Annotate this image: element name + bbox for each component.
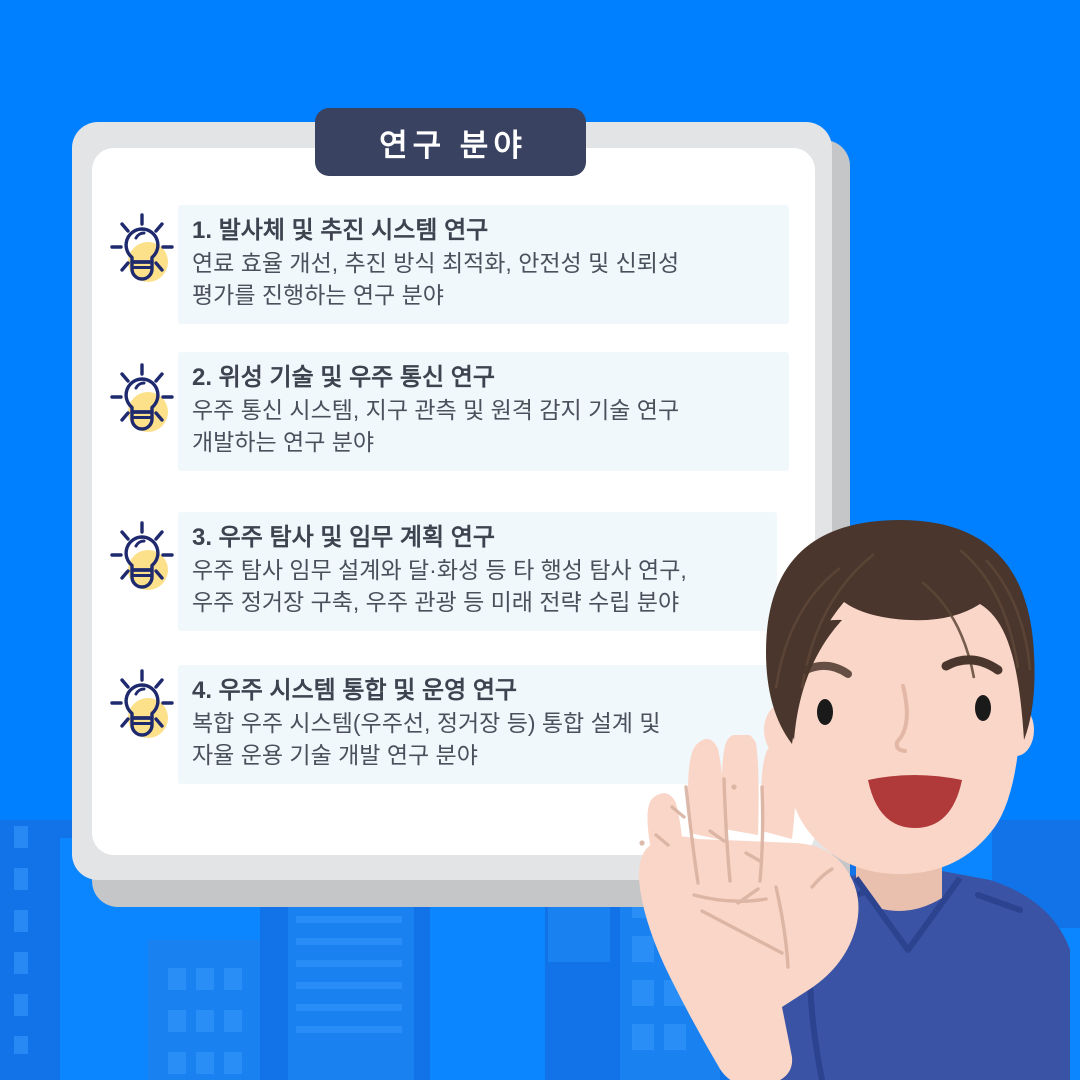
list-item-desc: 복합 우주 시스템(우주선, 정거장 등) 통합 설계 및 자율 운용 기술 개… — [192, 707, 763, 771]
list-item-box: 4. 우주 시스템 통합 및 운영 연구 복합 우주 시스템(우주선, 정거장 … — [178, 665, 777, 784]
list-item-box: 2. 위성 기술 및 우주 통신 연구 우주 통신 시스템, 지구 관측 및 원… — [178, 352, 789, 471]
list-item-box: 1. 발사체 및 추진 시스템 연구 연료 효율 개선, 추진 방식 최적화, … — [178, 205, 789, 324]
lightbulb-icon — [106, 518, 178, 598]
research-field-list: 1. 발사체 및 추진 시스템 연구 연료 효율 개선, 추진 방식 최적화, … — [92, 148, 815, 855]
list-item-desc: 우주 탐사 임무 설계와 달·화성 등 타 행성 탐사 연구, 우주 정거장 구… — [192, 554, 763, 618]
list-item-title: 1. 발사체 및 추진 시스템 연구 — [192, 215, 775, 246]
list-item-desc: 우주 통신 시스템, 지구 관측 및 원격 감지 기술 연구 개발하는 연구 분… — [192, 394, 775, 458]
lightbulb-icon — [106, 210, 178, 290]
lightbulb-icon — [106, 360, 178, 440]
list-item-title: 3. 우주 탐사 및 임무 계획 연구 — [192, 522, 763, 553]
list-item-box: 3. 우주 탐사 및 임무 계획 연구 우주 탐사 임무 설계와 달·화성 등 … — [178, 512, 777, 631]
page-title-badge: 연구 분야 — [315, 108, 586, 176]
lightbulb-icon — [106, 666, 178, 746]
list-item-desc: 연료 효율 개선, 추진 방식 최적화, 안전성 및 신뢰성 평가를 진행하는 … — [192, 247, 775, 311]
page-title: 연구 분야 — [374, 120, 527, 165]
list-item-title: 4. 우주 시스템 통합 및 운영 연구 — [192, 675, 763, 706]
list-item-title: 2. 위성 기술 및 우주 통신 연구 — [192, 362, 775, 393]
